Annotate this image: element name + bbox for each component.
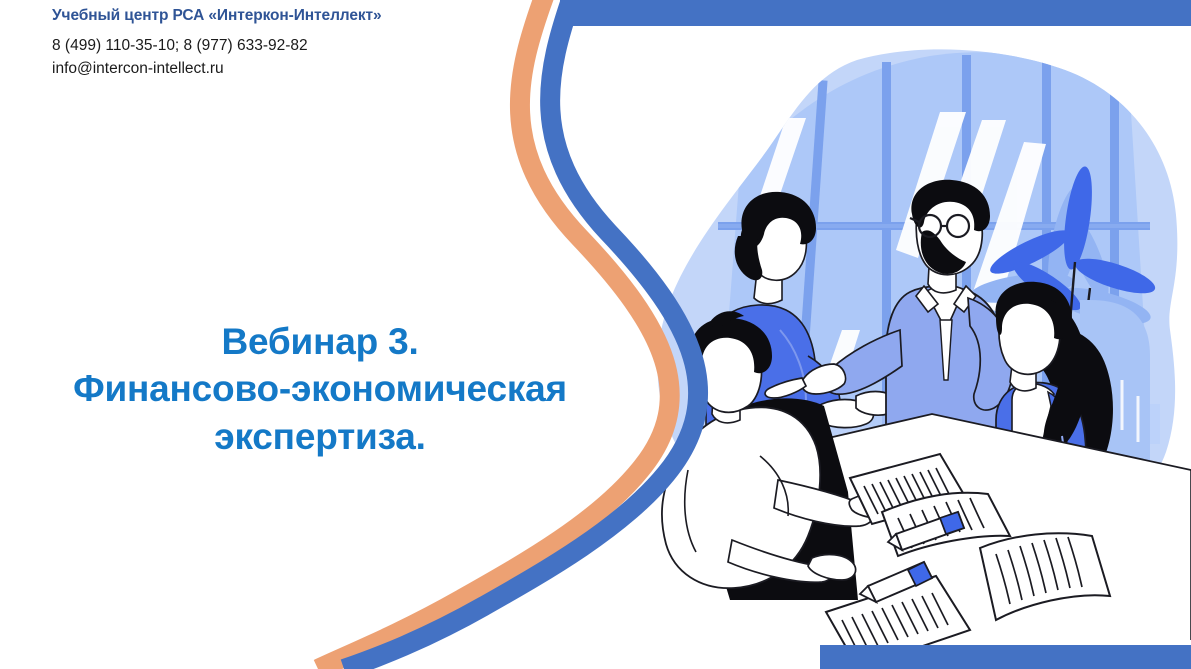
email-address: info@intercon-intellect.ru: [52, 57, 522, 81]
organization-title: Учебный центр РСА «Интеркон-Интеллект»: [52, 6, 522, 27]
title-line-1: Вебинар 3.: [0, 318, 640, 365]
title-line-2: Финансово-экономическая: [0, 365, 640, 412]
header-contact-block: Учебный центр РСА «Интеркон-Интеллект» 8…: [52, 6, 522, 81]
page-title: Вебинар 3. Финансово-экономическая экспе…: [0, 318, 640, 460]
presentation-slide: Учебный центр РСА «Интеркон-Интеллект» 8…: [0, 0, 1191, 669]
phone-numbers: 8 (499) 110-35-10; 8 (977) 633-92-82: [52, 34, 522, 58]
business-meeting-illustration: [610, 0, 1191, 669]
title-line-3: экспертиза.: [0, 413, 640, 460]
